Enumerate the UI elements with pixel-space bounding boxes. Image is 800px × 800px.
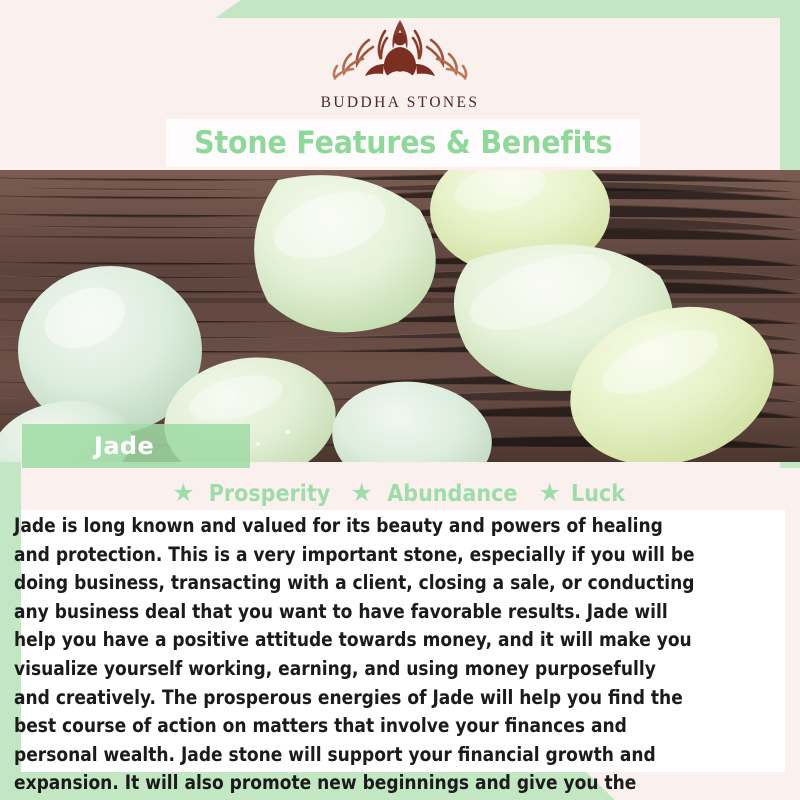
star-icon: ★: [172, 481, 194, 506]
benefit-item: ★ Abundance: [350, 481, 524, 507]
benefit-item: ★ Luck: [539, 481, 628, 507]
stone-name-band: Jade: [22, 424, 250, 468]
stone-photo: [0, 170, 800, 462]
description-text: Jade is long known and valued for its be…: [14, 512, 695, 800]
stone-photo-illustration: [0, 170, 800, 462]
page-title: Stone Features & Benefits: [194, 125, 612, 161]
star-icon: ★: [539, 481, 561, 506]
benefits-row: ★ Prosperity ★ Abundance ★ Luck: [0, 478, 800, 510]
title-banner: Stone Features & Benefits: [166, 119, 640, 167]
star-icon: ★: [350, 481, 372, 506]
benefit-item: ★ Prosperity: [172, 481, 336, 507]
lotus-meditation-icon: [325, 14, 475, 90]
stone-info-card: BUDDHA STONES Stone Features & Benefits: [0, 0, 800, 800]
stone-name-label: Jade: [94, 432, 154, 460]
benefit-label: Abundance: [387, 481, 517, 507]
brand-logo: BUDDHA STONES: [0, 14, 800, 112]
benefit-label: Luck: [571, 481, 625, 507]
benefit-label: Prosperity: [208, 481, 329, 507]
brand-wordmark: BUDDHA STONES: [321, 94, 480, 112]
